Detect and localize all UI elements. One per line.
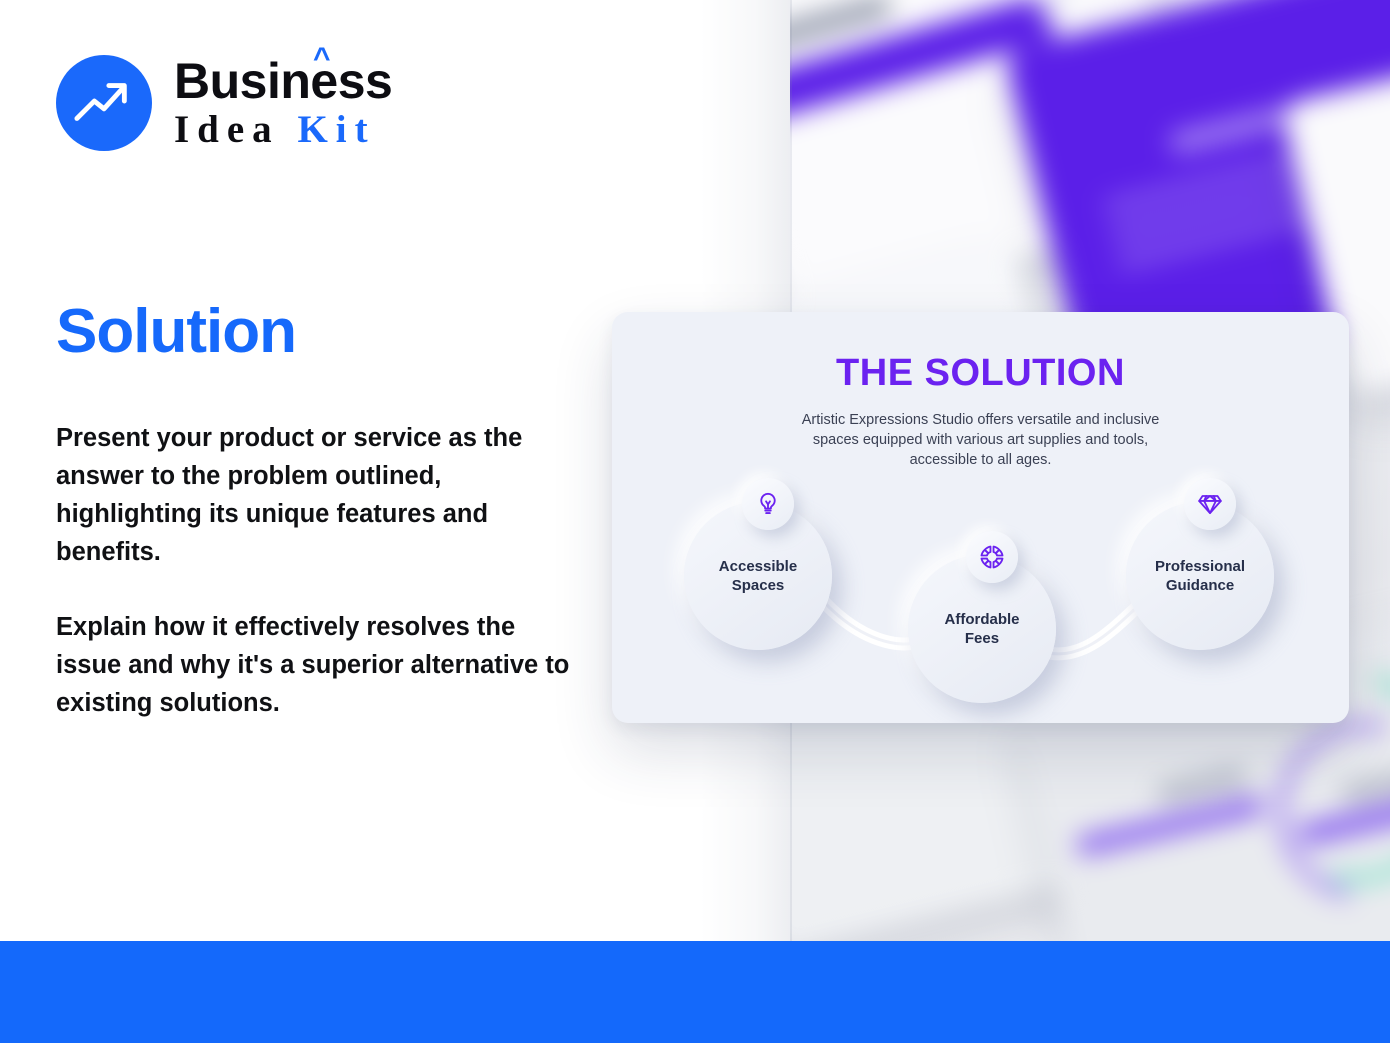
body-paragraph-2: Explain how it effectively resolves the …: [56, 608, 576, 722]
lifebuoy-icon: [979, 544, 1005, 570]
lightbulb-icon: [755, 491, 781, 517]
bubble-label: Accessible Spaces: [719, 557, 797, 595]
logo-caret-accent: ^: [313, 44, 330, 74]
logo-text-business: Business: [174, 53, 392, 109]
page-title: Solution: [56, 296, 296, 367]
bubble-label-line2: Fees: [965, 630, 999, 647]
growth-arrow-icon: [73, 72, 135, 134]
lightbulb-icon-badge[interactable]: [742, 478, 794, 530]
logo-text-idea: Idea: [174, 108, 297, 151]
bubble-group: Accessible Spaces Affordable Fees: [612, 312, 1349, 723]
logo-line-business: Business ^: [174, 56, 392, 106]
logo-line-idea-kit: Idea Kit: [174, 109, 392, 151]
body-paragraph-1: Present your product or service as the a…: [56, 419, 576, 571]
diamond-icon: [1197, 491, 1223, 517]
bubble-label: Professional Guidance: [1155, 557, 1245, 595]
solution-preview-card: THE SOLUTION Artistic Expressions Studio…: [612, 312, 1349, 723]
diamond-icon-badge[interactable]: [1184, 478, 1236, 530]
footer-accent-bar: [0, 941, 1390, 1043]
bubble-label-line2: Guidance: [1166, 577, 1234, 594]
brand-logo: Business ^ Idea Kit: [56, 55, 392, 151]
lifebuoy-icon-badge[interactable]: [966, 531, 1018, 583]
bubble-label-line1: Professional: [1155, 558, 1245, 575]
logo-mark: [56, 55, 152, 151]
logo-text-kit: Kit: [297, 108, 375, 151]
bubble-label-line1: Accessible: [719, 558, 797, 575]
logo-wordmark: Business ^ Idea Kit: [174, 56, 392, 151]
slide-root: THE SOLUTION Artistic Expressions Studio…: [0, 0, 1390, 1043]
bubble-label: Affordable Fees: [945, 610, 1020, 648]
bubble-label-line1: Affordable: [945, 611, 1020, 628]
bubble-label-line2: Spaces: [732, 577, 785, 594]
